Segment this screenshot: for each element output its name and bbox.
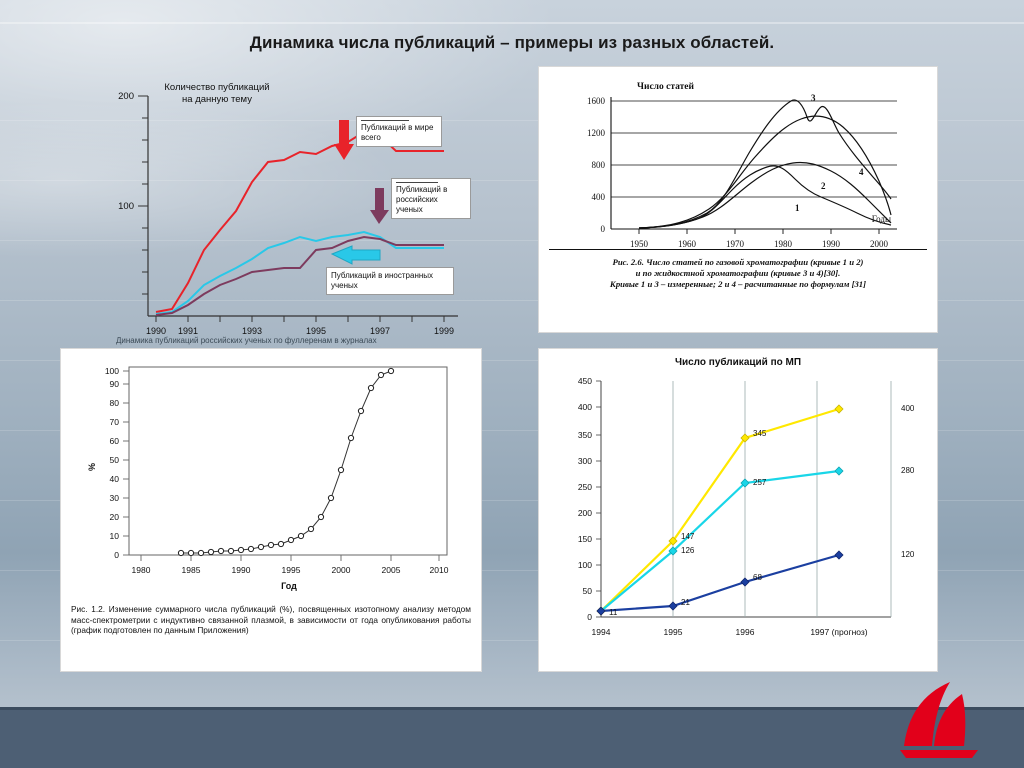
chart2-ytick-1600: 1600	[587, 96, 606, 106]
svg-text:250: 250	[578, 482, 592, 492]
svg-text:40: 40	[110, 474, 120, 484]
chart2-ytick-0: 0	[601, 224, 606, 234]
chart1-xtick-1991: 1991	[178, 326, 198, 336]
svg-text:100: 100	[105, 366, 119, 376]
chart-chromatography-articles: Число статей 0 400 800 1200 1600 1950 19…	[538, 66, 938, 333]
chart1-xtick-1995: 1995	[306, 326, 326, 336]
slide-title: Динамика числа публикаций – примеры из р…	[0, 33, 1024, 53]
chart4-label-c-1996: 257	[753, 478, 767, 487]
chart3-plot: 0 10 20 30 40 50 60 70 80 90 100 % 1980 …	[61, 349, 481, 604]
chart2-curve-label-4: 4	[859, 167, 864, 177]
svg-text:100: 100	[578, 560, 592, 570]
chart4-label-y-1994: 11	[609, 608, 618, 617]
svg-text:0: 0	[587, 612, 592, 622]
chart4-series-blue	[601, 555, 839, 611]
chart1-callout-world: Публикаций в мире всего	[356, 116, 442, 147]
chart1-callout-foreign: Публикаций в иностранных ученых	[326, 267, 454, 295]
chart2-xtick-1970: 1970	[726, 239, 745, 249]
chart-mp-publications: Число публикаций по МП 0 50 100 150	[538, 348, 938, 672]
svg-text:300: 300	[578, 456, 592, 466]
chart2-curve-label-1: 1	[795, 203, 800, 213]
chart4-label-b-1996: 68	[753, 573, 762, 582]
chart3-xlabel: Год	[281, 581, 297, 591]
chart4-xtick-1996: 1996	[736, 627, 755, 637]
company-logo	[892, 680, 984, 758]
chart4-label-c-1995: 126	[681, 546, 695, 555]
top-divider	[0, 22, 1024, 24]
footer-bar	[0, 710, 1024, 768]
chart-publications-world: Количество публикаций на данную тему 100…	[60, 78, 480, 343]
chart3-caption: Рис. 1.2. Изменение суммарного числа пуб…	[71, 604, 471, 636]
chart4-xtick-1997: 1997 (прогноз)	[810, 627, 867, 637]
chart2-ylabel: Число статей	[637, 81, 695, 92]
svg-text:80: 80	[110, 398, 120, 408]
svg-text:2000: 2000	[332, 565, 351, 575]
svg-text:150: 150	[578, 534, 592, 544]
chart3-curve	[181, 371, 391, 553]
svg-text:1990: 1990	[232, 565, 251, 575]
svg-text:60: 60	[110, 436, 120, 446]
chart2-curve-3	[639, 100, 891, 228]
chart2-xtick-1960: 1960	[678, 239, 697, 249]
svg-text:1995: 1995	[282, 565, 301, 575]
svg-text:50: 50	[583, 586, 593, 596]
svg-text:350: 350	[578, 430, 592, 440]
svg-text:1985: 1985	[182, 565, 201, 575]
chart3-ylabel: %	[87, 463, 97, 471]
chart4-label-y-1996: 345	[753, 429, 767, 438]
chart2-ytick-1200: 1200	[587, 128, 606, 138]
chart4-label-y-1995: 147	[681, 532, 695, 541]
svg-text:70: 70	[110, 417, 120, 427]
chart1-xtick-1993: 1993	[242, 326, 262, 336]
svg-text:90: 90	[110, 379, 120, 389]
svg-text:0: 0	[114, 550, 119, 560]
chart2-caption: Рис. 2.6. Число статей по газовой хромат…	[547, 257, 929, 290]
chart3-points	[178, 368, 393, 555]
chart4-label-y-1997: 400	[901, 404, 915, 413]
chart2-xtick-1990: 1990	[822, 239, 841, 249]
chart4-plot: 0 50 100 150 200 250 300 350 400 450 199…	[539, 349, 937, 671]
chart2-xtick-1950: 1950	[630, 239, 649, 249]
chart4-label-c-1997: 280	[901, 466, 915, 475]
chart1-callout-russian: Публикаций в российских ученых	[391, 178, 471, 219]
chart1-ytick-200: 200	[118, 91, 134, 102]
svg-text:2010: 2010	[430, 565, 449, 575]
chart1-caption: Динамика публикаций российских ученых по…	[116, 336, 377, 345]
chart2-curve-2	[639, 162, 891, 228]
svg-text:400: 400	[578, 402, 592, 412]
chart2-curve-label-2: 2	[821, 181, 826, 191]
chart1-xtick-1990: 1990	[146, 326, 166, 336]
svg-text:20: 20	[110, 512, 120, 522]
chart4-xtick-1994: 1994	[592, 627, 611, 637]
chart2-ytick-400: 400	[592, 192, 606, 202]
svg-text:50: 50	[110, 455, 120, 465]
chart2-curve-label-3: 3	[811, 93, 816, 103]
chart2-xtick-1980: 1980	[774, 239, 793, 249]
svg-text:200: 200	[578, 508, 592, 518]
chart2-xtick-2000: 2000	[870, 239, 889, 249]
chart4-label-b-1995: 21	[681, 598, 690, 607]
chart2-plot: Число статей 0 400 800 1200 1600 1950 19…	[539, 67, 937, 267]
chart2-caption-rule	[549, 249, 927, 250]
svg-text:450: 450	[578, 376, 592, 386]
svg-text:10: 10	[110, 531, 120, 541]
chart1-ytick-100: 100	[118, 201, 134, 212]
chart2-ytick-800: 800	[592, 160, 606, 170]
chart1-xtick-1997: 1997	[370, 326, 390, 336]
svg-text:2005: 2005	[382, 565, 401, 575]
chart1-xtick-1999: 1999	[434, 326, 454, 336]
chart-isotope-publications: 0 10 20 30 40 50 60 70 80 90 100 % 1980 …	[60, 348, 482, 672]
chart4-xtick-1995: 1995	[664, 627, 683, 637]
svg-text:1980: 1980	[132, 565, 151, 575]
svg-text:30: 30	[110, 493, 120, 503]
chart4-label-b-1997: 120	[901, 550, 915, 559]
